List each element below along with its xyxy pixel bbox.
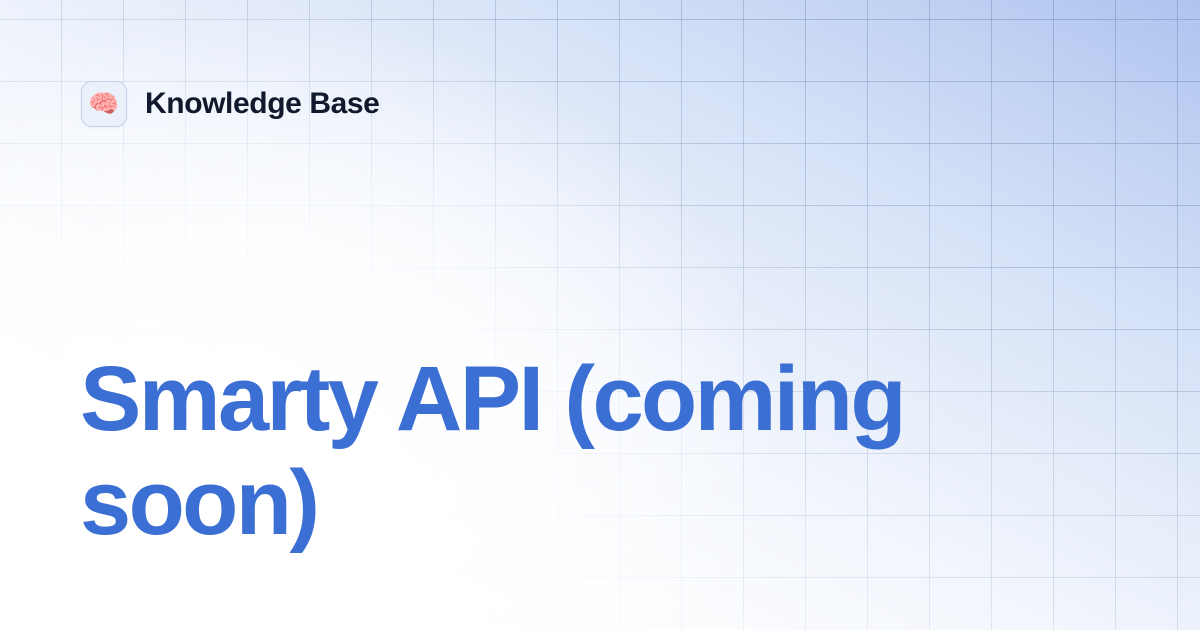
brand-header: 🧠 Knowledge Base [81,81,379,127]
brand-label: Knowledge Base [145,87,379,121]
card-content: 🧠 Knowledge Base Smarty API (coming soon… [0,0,1200,630]
brain-icon: 🧠 [88,92,119,117]
page-title: Smarty API (coming soon) [80,347,985,555]
og-card: 🧠 Knowledge Base Smarty API (coming soon… [0,0,1200,630]
brand-icon-container: 🧠 [81,81,127,127]
